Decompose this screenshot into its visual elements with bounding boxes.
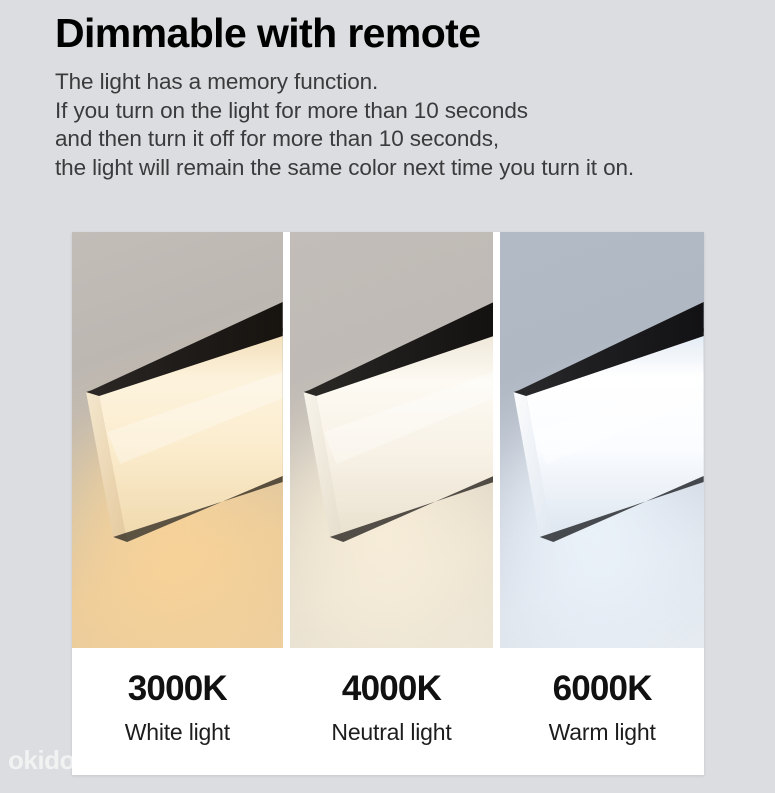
description-line-3: and then turn it off for more than 10 se…: [55, 125, 755, 154]
color-temp-panel-3000k[interactable]: 3000K White light: [72, 232, 283, 775]
light-name: White light: [125, 718, 230, 746]
lamp-photo-4000k: [290, 232, 494, 648]
color-temperature-comparison-card: 3000K White light: [72, 232, 704, 775]
linear-led-fixture-icon: [72, 232, 283, 648]
label-band-3000k: 3000K White light: [72, 648, 283, 775]
lamp-photo-3000k: [72, 232, 283, 648]
kelvin-value: 3000K: [128, 669, 227, 709]
color-temp-panel-6000k[interactable]: 6000K Warm light: [493, 232, 704, 775]
light-name: Warm light: [549, 718, 656, 746]
lamp-photo-6000k: [500, 232, 704, 648]
label-band-4000k: 4000K Neutral light: [290, 648, 494, 775]
kelvin-value: 6000K: [553, 669, 652, 709]
description-line-2: If you turn on the light for more than 1…: [55, 97, 755, 126]
description-text: The light has a memory function. If you …: [55, 68, 755, 182]
label-band-6000k: 6000K Warm light: [500, 648, 704, 775]
kelvin-value: 4000K: [342, 669, 441, 709]
linear-led-fixture-icon: [500, 232, 704, 648]
color-temp-panel-4000k[interactable]: 4000K Neutral light: [283, 232, 494, 775]
light-name: Neutral light: [331, 718, 451, 746]
description-line-1: The light has a memory function.: [55, 68, 755, 97]
description-line-4: the light will remain the same color nex…: [55, 154, 755, 183]
linear-led-fixture-icon: [290, 232, 494, 648]
header-section: Dimmable with remote The light has a mem…: [55, 6, 755, 182]
page-title: Dimmable with remote: [55, 6, 755, 60]
